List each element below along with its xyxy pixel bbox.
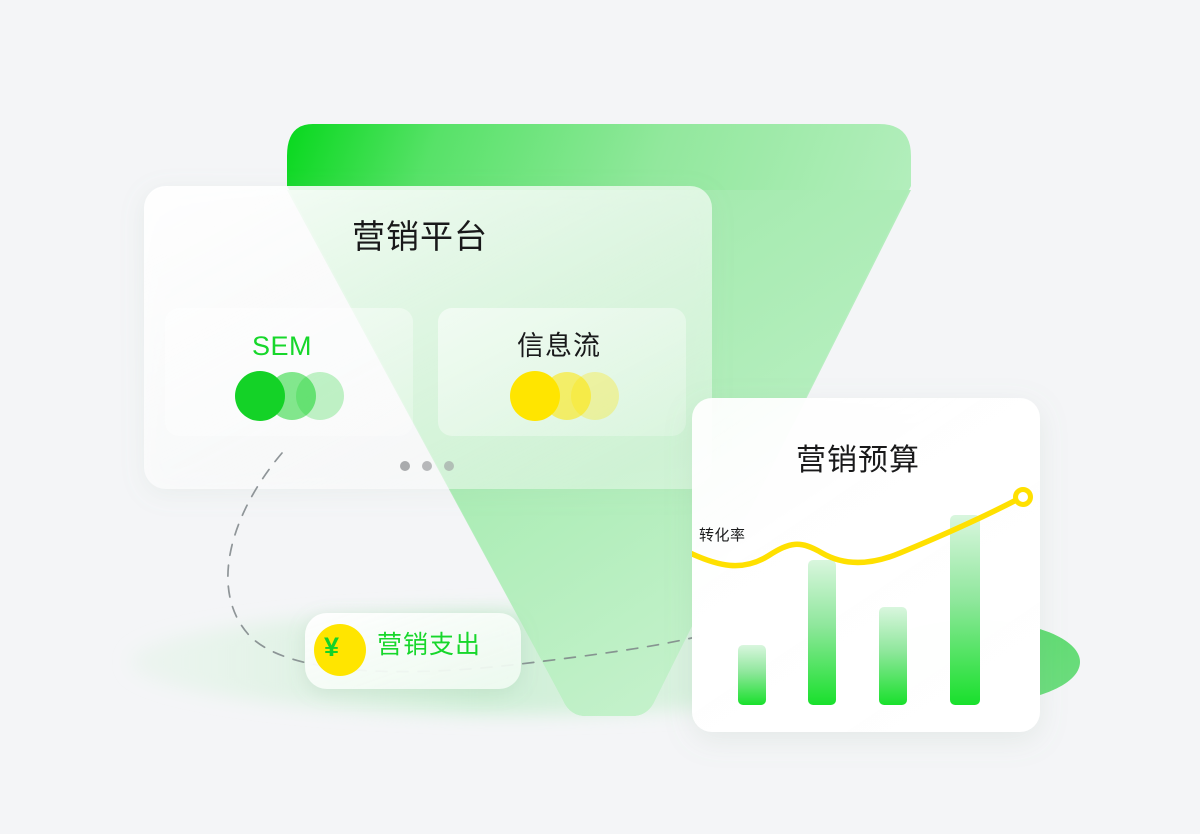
card-sem-label: SEM bbox=[252, 333, 312, 360]
budget-card-title: 营销预算 bbox=[796, 446, 920, 476]
yen-icon bbox=[314, 624, 366, 676]
spend-badge-layer bbox=[0, 0, 1200, 834]
card-feed-label: 信息流 bbox=[517, 333, 601, 360]
conversion-rate-label: 转化率 bbox=[699, 528, 746, 543]
platform-title: 营销平台 bbox=[352, 220, 488, 253]
illustration-canvas: 营销平台 SEM 信息流 营销预算 转化率 ¥ 营销支出 bbox=[0, 0, 1200, 834]
spend-badge-label: 营销支出 bbox=[377, 633, 481, 658]
yen-icon-glyph: ¥ bbox=[324, 634, 339, 661]
